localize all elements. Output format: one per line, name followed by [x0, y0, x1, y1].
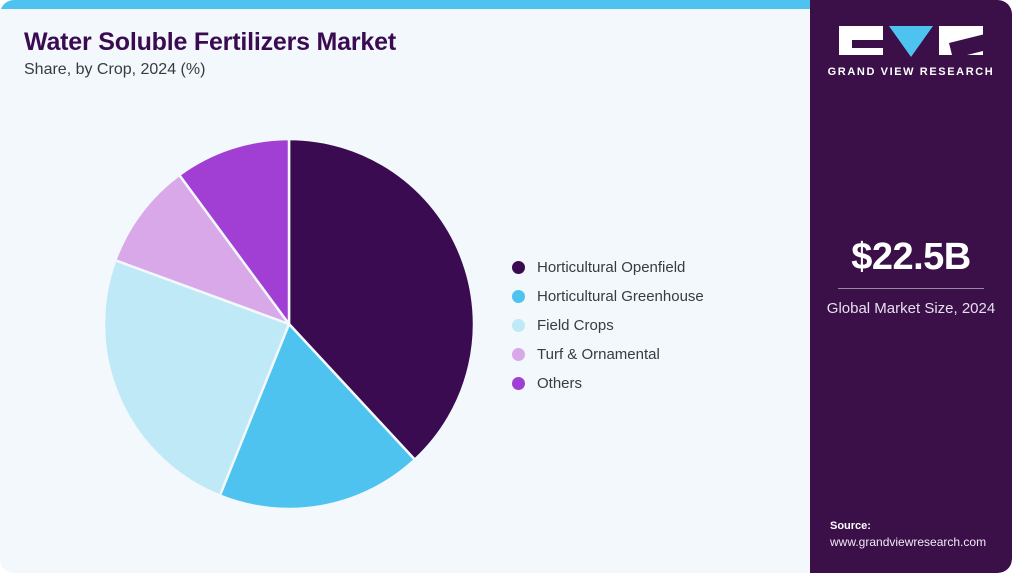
legend-item-label: Field Crops [537, 317, 614, 334]
legend-item[interactable]: Horticultural Openfield [512, 253, 782, 282]
pie-chart-svg [104, 139, 474, 509]
legend-swatch-icon [512, 290, 525, 303]
legend-item-label: Horticultural Openfield [537, 259, 685, 276]
legend-item[interactable]: Horticultural Greenhouse [512, 282, 782, 311]
legend-swatch-icon [512, 261, 525, 274]
legend-swatch-icon [512, 377, 525, 390]
legend-item-label: Turf & Ornamental [537, 346, 660, 363]
source-url[interactable]: www.grandviewresearch.com [830, 534, 986, 551]
market-size-stat: $22.5B Global Market Size, 2024 [810, 238, 1012, 319]
legend-item[interactable]: Turf & Ornamental [512, 340, 782, 369]
stat-divider [838, 288, 984, 289]
legend-swatch-icon [512, 319, 525, 332]
market-size-value: $22.5B [810, 238, 1012, 278]
source-label: Source: [830, 518, 986, 535]
chart-card: Water Soluble Fertilizers Market Share, … [0, 0, 1012, 573]
source-block: Source: www.grandviewresearch.com [830, 518, 986, 551]
brand-logo: GRAND VIEW RESEARCH [810, 26, 1012, 78]
logo-letter-r-icon [939, 26, 983, 55]
brand-panel: GRAND VIEW RESEARCH $22.5B Global Market… [810, 0, 1012, 573]
chart-legend: Horticultural OpenfieldHorticultural Gre… [512, 253, 782, 398]
logo-letter-v-icon [889, 26, 933, 57]
legend-item-label: Horticultural Greenhouse [537, 288, 704, 305]
legend-item[interactable]: Field Crops [512, 311, 782, 340]
chart-main-area: Water Soluble Fertilizers Market Share, … [0, 0, 810, 573]
legend-item[interactable]: Others [512, 369, 782, 398]
page-title: Water Soluble Fertilizers Market [24, 28, 396, 57]
page-subtitle: Share, by Crop, 2024 (%) [24, 61, 205, 79]
logo-marks [810, 26, 1012, 57]
pie-chart [104, 139, 474, 509]
legend-swatch-icon [512, 348, 525, 361]
logo-letter-g-icon [839, 26, 883, 55]
market-size-caption: Global Market Size, 2024 [810, 299, 1012, 319]
logo-wordmark: GRAND VIEW RESEARCH [810, 66, 1012, 78]
legend-item-label: Others [537, 375, 582, 392]
